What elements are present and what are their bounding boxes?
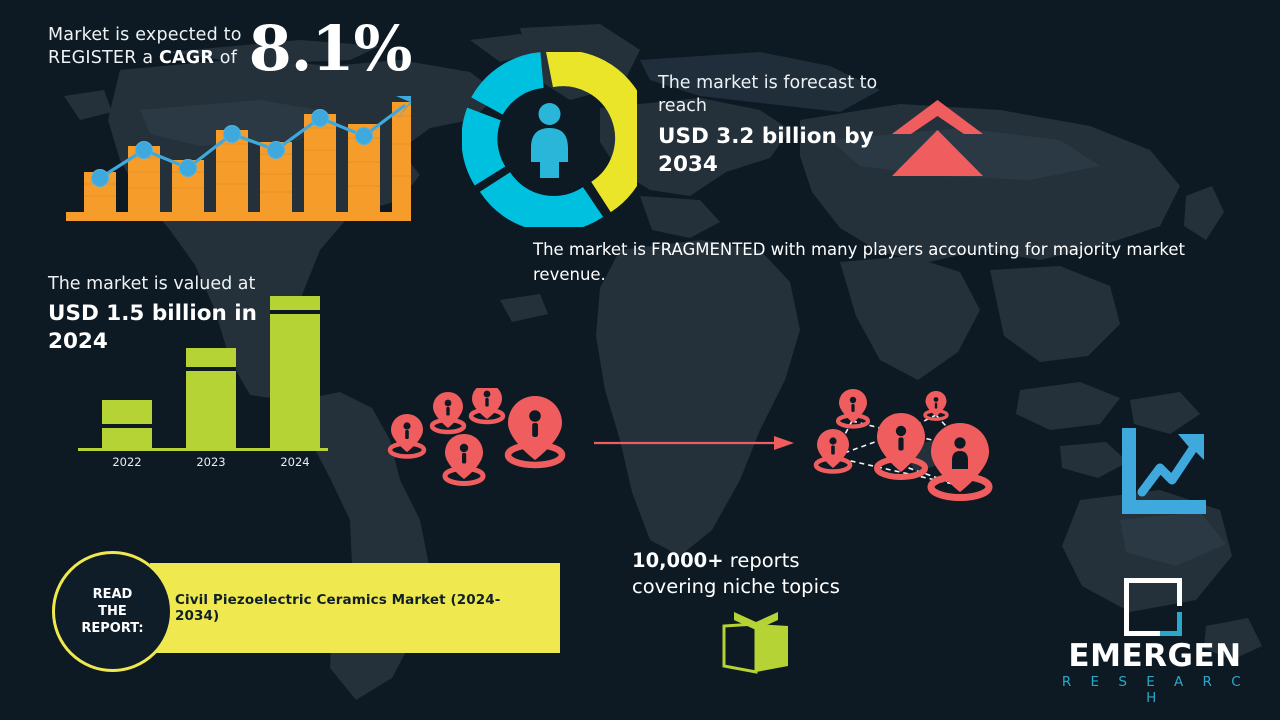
- read-report-line-1: READ: [93, 587, 133, 602]
- emergen-research-logo: EMERGEN R E S E A R C H: [1060, 576, 1250, 696]
- reports-count-block: 10,000+ reports covering niche topics: [632, 548, 892, 600]
- read-report-label: READ THE REPORT:: [81, 586, 143, 637]
- green-baseline: [78, 448, 328, 451]
- cagr-value: 8.1%: [249, 18, 412, 80]
- fragmented-market-text: The market is FRAGMENTED with many playe…: [533, 237, 1223, 287]
- green-tick-2024: 2024: [280, 455, 309, 469]
- cagr-line-2-pre: REGISTER a: [48, 48, 159, 68]
- read-report-line-2: THE: [98, 604, 127, 619]
- forecast-value: USD 3.2 billion by 2034: [658, 123, 898, 179]
- forecast-block: The market is forecast to reach USD 3.2 …: [658, 72, 898, 179]
- logo-subtitle: R E S E A R C H: [1060, 674, 1250, 706]
- read-report-bar[interactable]: Civil Piezoelectric Ceramics Market (202…: [150, 563, 560, 653]
- market-value-bar-chart: 2022 2023 2024: [78, 290, 328, 470]
- infographic-canvas: Market is expected to REGISTER a CAGR of…: [0, 0, 1280, 720]
- orange-growth-bar-chart: [66, 88, 411, 223]
- report-title: Civil Piezoelectric Ceramics Market (202…: [175, 563, 535, 653]
- read-report-line-3: REPORT:: [81, 621, 143, 636]
- location-pin-cluster-connected: [800, 385, 1025, 505]
- forecast-subtitle: The market is forecast to reach: [658, 72, 898, 118]
- green-tick-2023: 2023: [196, 455, 225, 469]
- reports-line-1: 10,000+ reports: [632, 548, 892, 574]
- cagr-line-2: REGISTER a CAGR of: [48, 47, 242, 70]
- location-pin-cluster-scattered: [382, 388, 582, 493]
- read-report-button[interactable]: READ THE REPORT:: [52, 551, 173, 672]
- donut-slice-cyan-2: [479, 114, 490, 176]
- cagr-block: Market is expected to REGISTER a CAGR of…: [48, 18, 468, 80]
- market-share-donut-chart: [462, 52, 637, 227]
- open-book-icon: [718, 610, 794, 676]
- logo-name: EMERGEN: [1060, 638, 1250, 674]
- reports-word: reports: [724, 549, 800, 572]
- donut-slice-cyan-1: [495, 182, 593, 214]
- reports-line-2: covering niche topics: [632, 574, 892, 600]
- green-tick-2022: 2022: [112, 455, 141, 469]
- reports-count: 10,000+: [632, 549, 724, 572]
- square-bracket-logo-icon: [1122, 576, 1184, 638]
- right-arrow-icon: [592, 428, 797, 458]
- growth-chart-icon: [1116, 424, 1208, 516]
- double-chevron-up-icon: [890, 98, 985, 178]
- orange-baseline: [66, 212, 411, 221]
- cagr-line-1: Market is expected to: [48, 24, 242, 47]
- cagr-keyword: CAGR: [159, 48, 214, 68]
- cagr-line-2-post: of: [214, 48, 237, 68]
- cagr-text: Market is expected to REGISTER a CAGR of: [48, 18, 242, 70]
